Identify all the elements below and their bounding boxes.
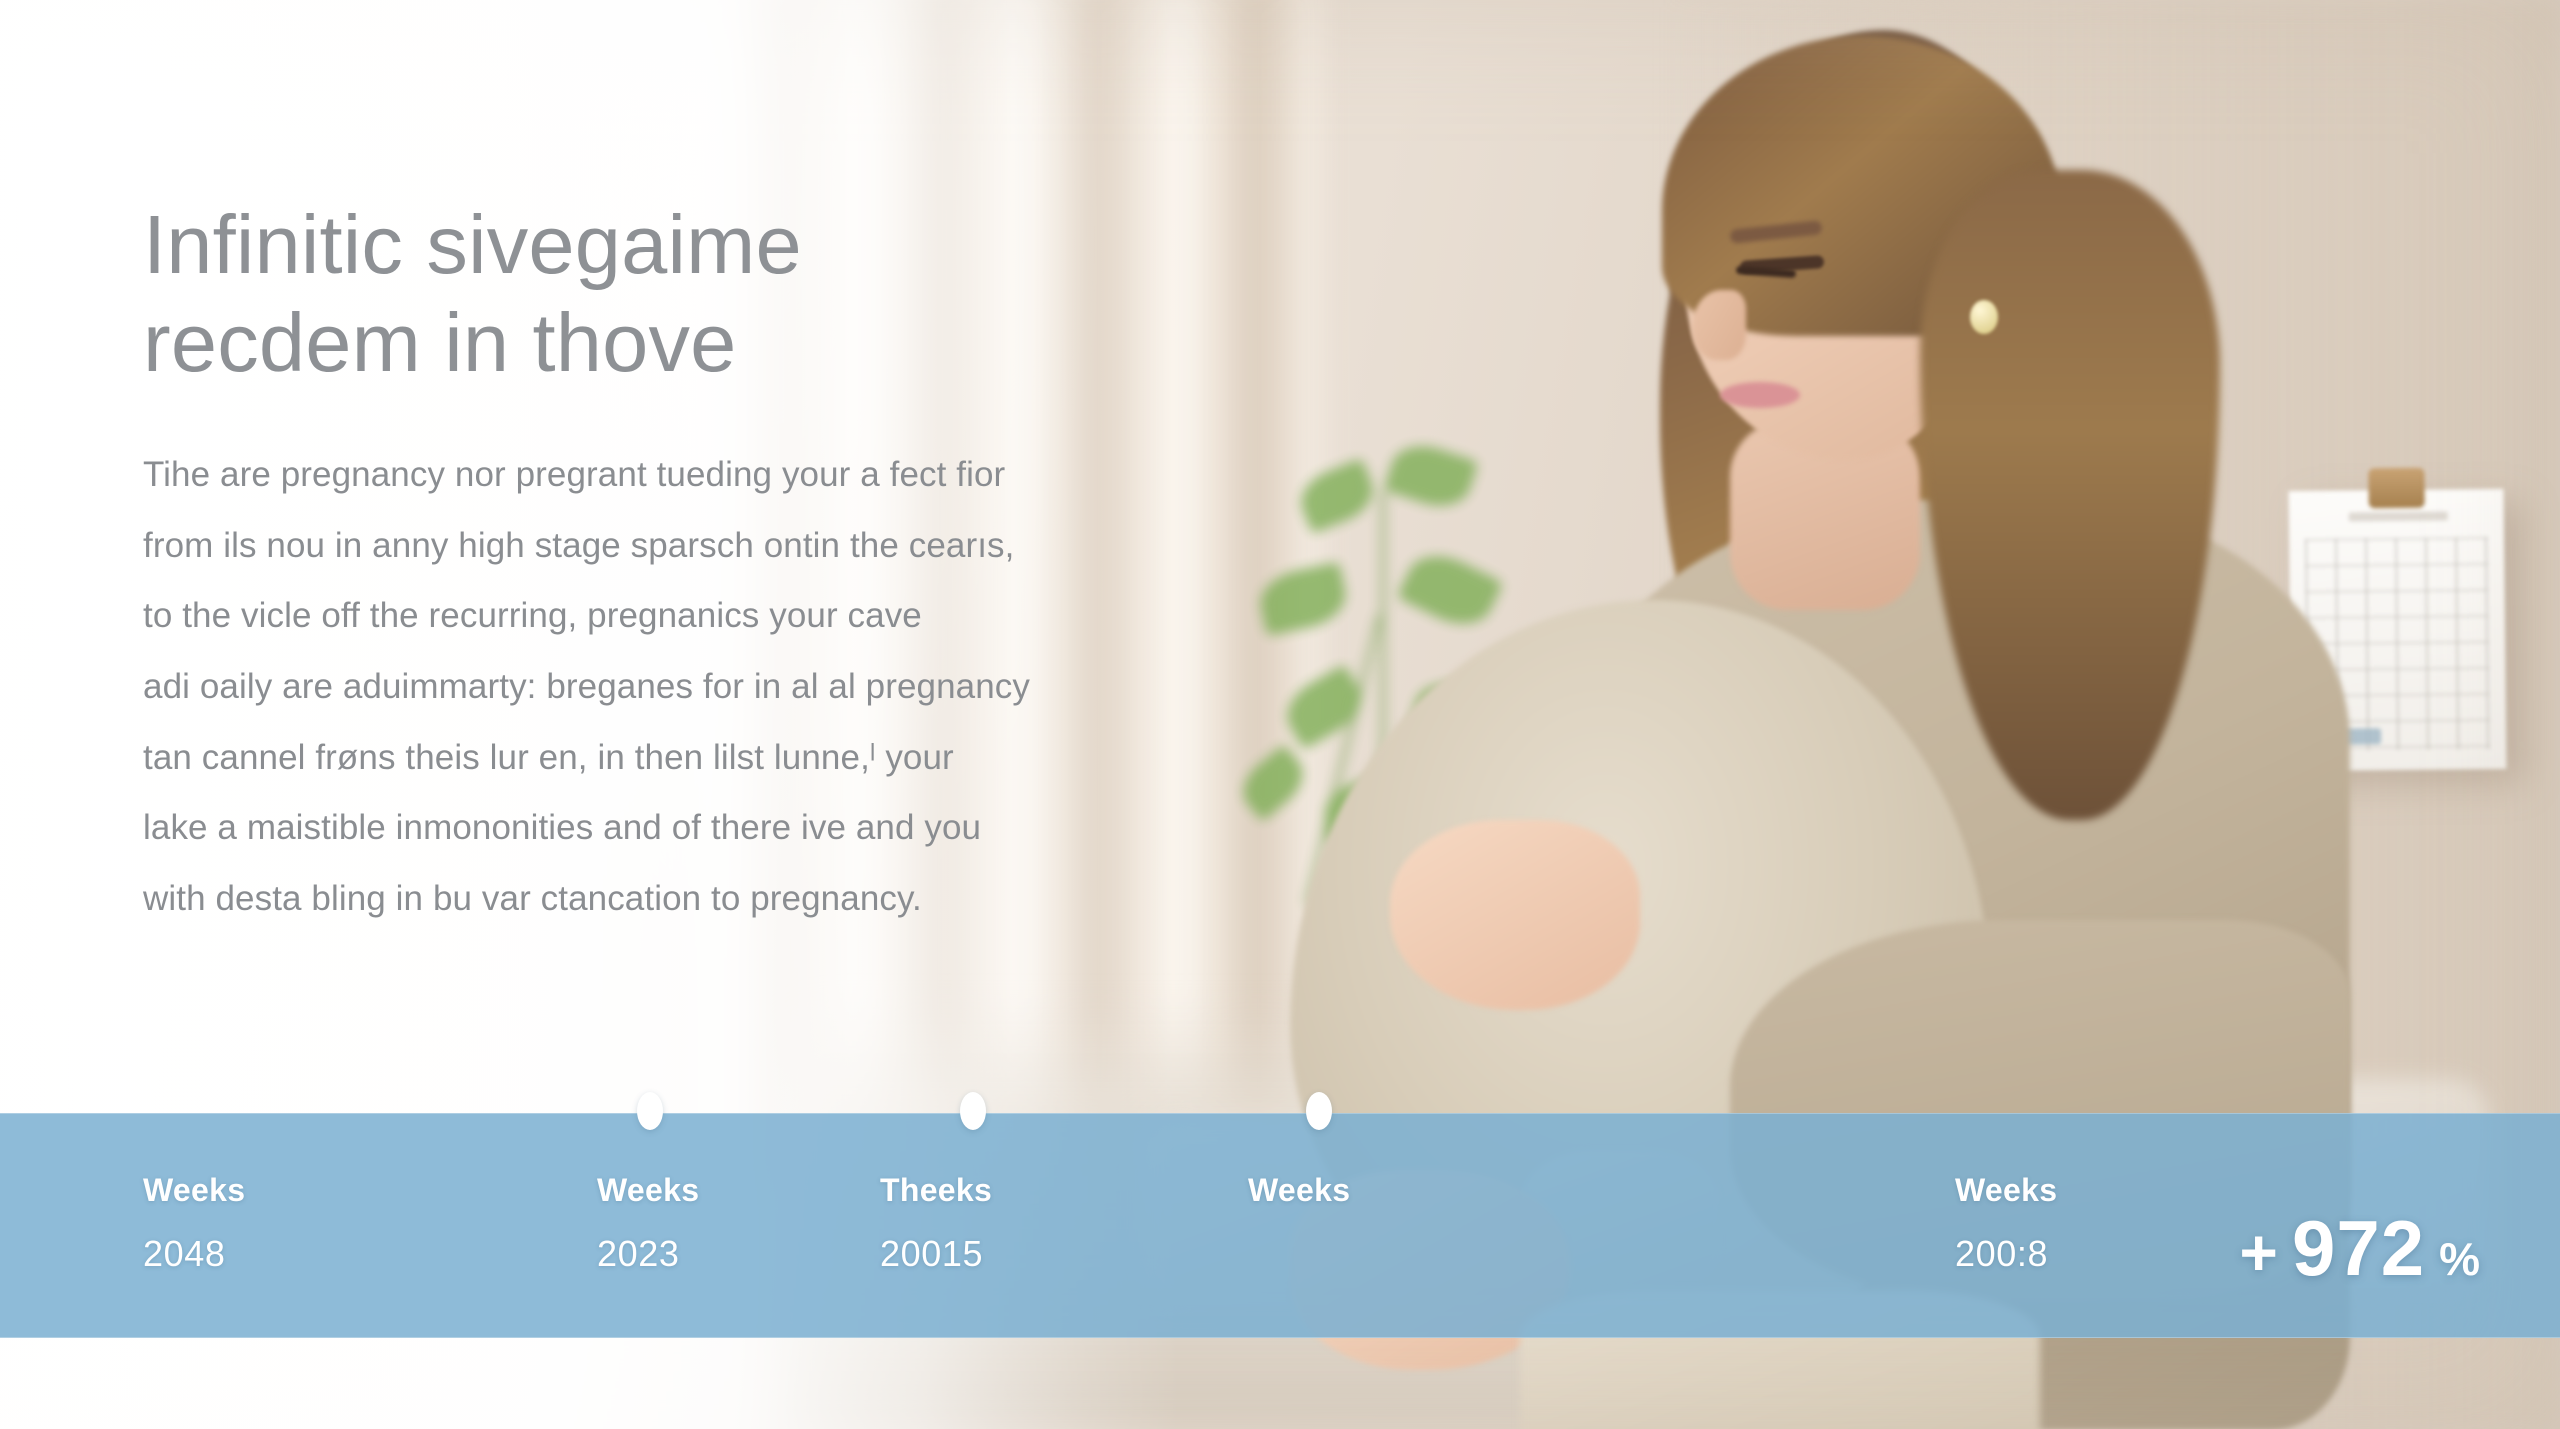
stat-label: Theeks — [880, 1174, 992, 1206]
page-title: Infinitic sivegaime recdem in thove — [143, 196, 1243, 392]
timeline-marker[interactable] — [960, 1092, 986, 1130]
copy-block: Infinitic sivegaime recdem in thove Tihe… — [143, 196, 1243, 935]
kpi-growth: + 972 % — [2239, 1209, 2480, 1287]
hand-upper — [1390, 820, 1640, 1010]
stat-label: Weeks — [1248, 1174, 1350, 1206]
timeline-marker[interactable] — [1306, 1092, 1332, 1130]
stat-label: Weeks — [597, 1174, 699, 1206]
body-line: from ils nou in anny high stage sparsch … — [143, 511, 1243, 582]
body-line: lake a maistible inmononities and of the… — [143, 793, 1243, 864]
stats-bar: Weeks 2048 Weeks 2023 Theeks 20015 Weeks… — [0, 1113, 2560, 1338]
stat-item[interactable]: Weeks — [1248, 1174, 1350, 1236]
stat-value: 20015 — [880, 1236, 992, 1272]
body-paragraph: Tihe are pregnancy nor pregrant tueding … — [143, 440, 1243, 935]
body-line: with desta bling in bu var ctancation to… — [143, 864, 1243, 935]
body-line: tan cannel frøns theis lur en, in then l… — [143, 723, 1243, 794]
kpi-percent-sign: % — [2439, 1236, 2480, 1282]
earring — [1970, 300, 1998, 334]
body-line: adi oaily are aduimmarty: breganes for i… — [143, 652, 1243, 723]
stat-label: Weeks — [1955, 1174, 2057, 1206]
timeline-marker[interactable] — [637, 1092, 663, 1130]
stat-label: Weeks — [143, 1174, 245, 1206]
stat-value: 2023 — [597, 1236, 699, 1272]
kpi-plus-sign: + — [2239, 1219, 2278, 1285]
stat-item[interactable]: Theeks 20015 — [880, 1174, 992, 1272]
stat-value: 200:8 — [1955, 1236, 2057, 1272]
hero-banner: Infinitic sivegaime recdem in thove Tihe… — [0, 0, 2560, 1429]
body-line: Tihe are pregnancy nor pregrant tueding … — [143, 440, 1243, 511]
body-line: to the vicle off the recurring, pregnani… — [143, 581, 1243, 652]
kpi-number: 972 — [2292, 1209, 2425, 1287]
stat-item[interactable]: Weeks 2048 — [143, 1174, 245, 1272]
stat-value: 2048 — [143, 1236, 245, 1272]
stat-item[interactable]: Weeks 200:8 — [1955, 1174, 2057, 1272]
stat-item[interactable]: Weeks 2023 — [597, 1174, 699, 1272]
